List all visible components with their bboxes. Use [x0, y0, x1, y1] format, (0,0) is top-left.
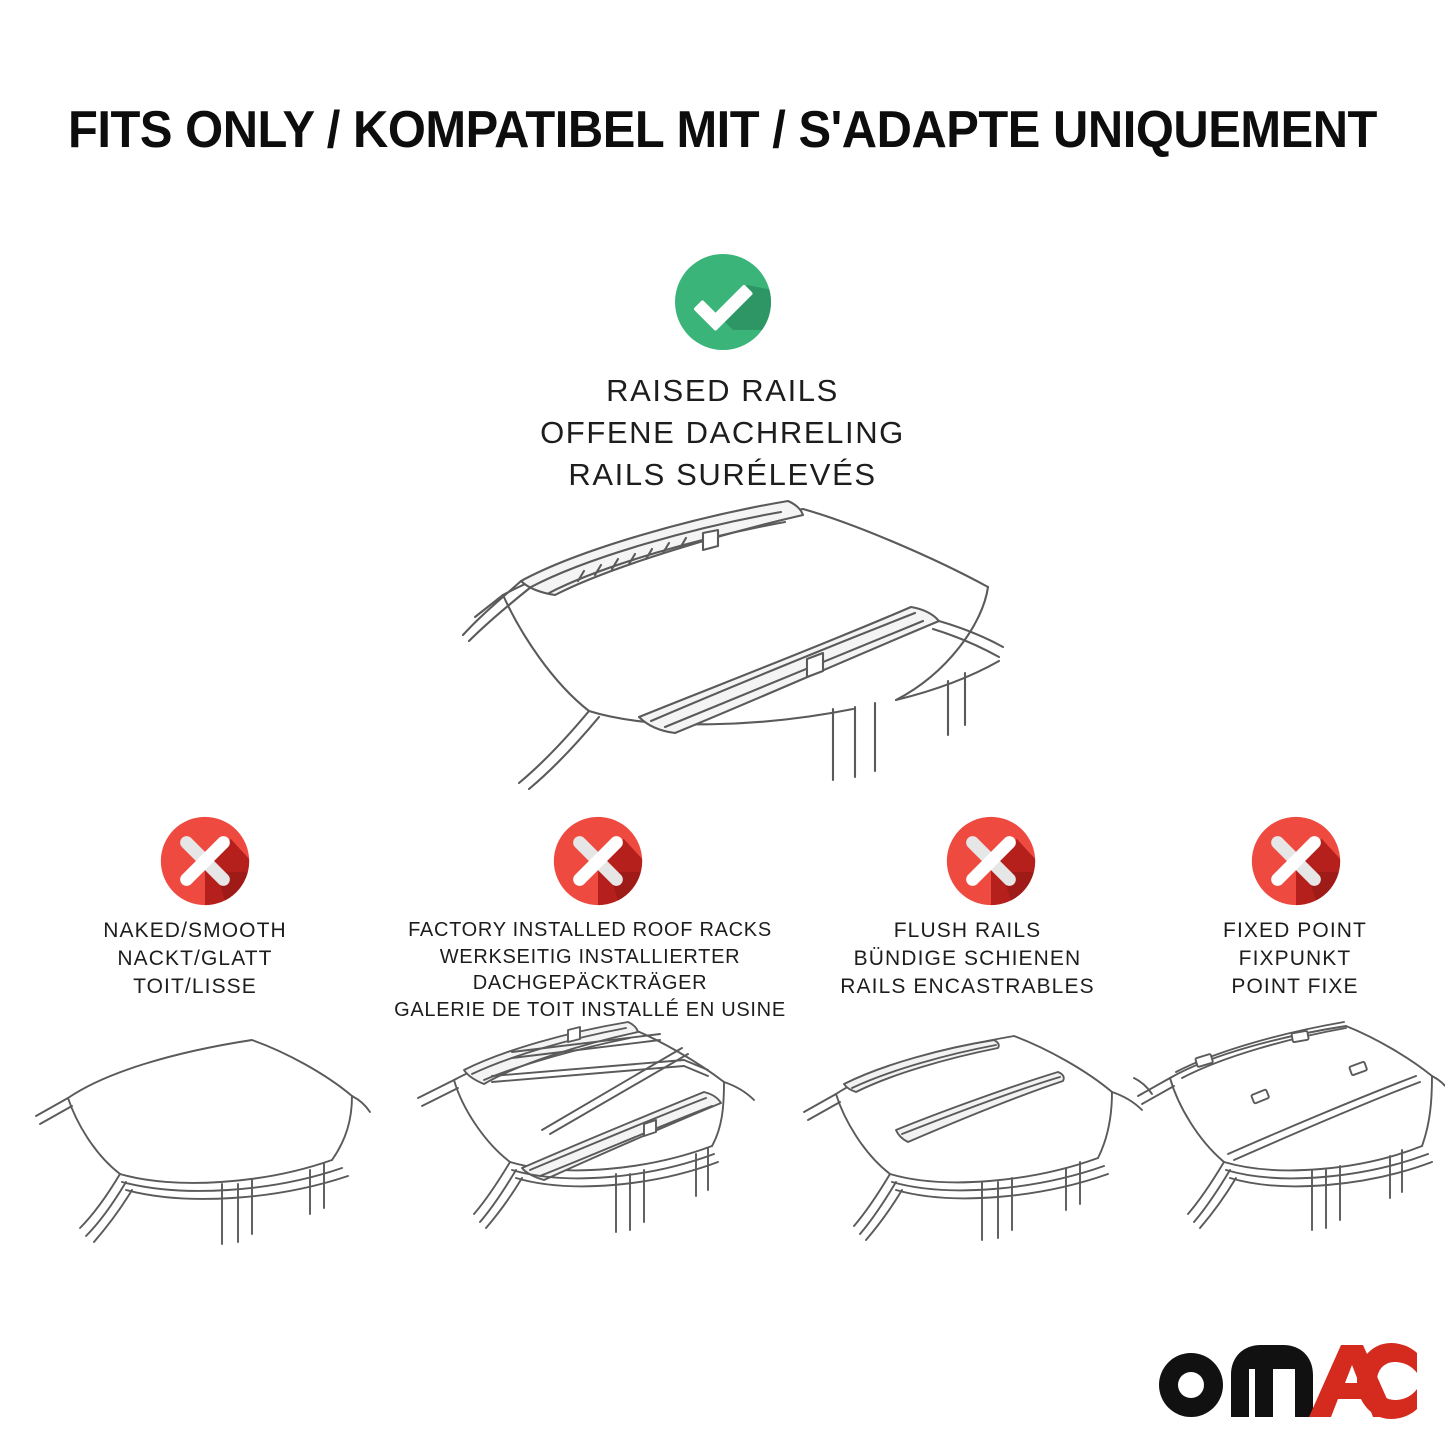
logo-letter-m: [1231, 1345, 1313, 1417]
caption-line: FACTORY INSTALLED ROOF RACKS: [390, 917, 790, 944]
incompatible-item-fixed-point: FIXED POINT FIXPUNKT POINT FIXE: [1145, 815, 1445, 1001]
incompatible-caption-2: FACTORY INSTALLED ROOF RACKS WERKSEITIG …: [390, 917, 790, 1023]
incompatible-row: NAKED/SMOOTH NACKT/GLATT TOIT/LISSE: [0, 815, 1445, 1023]
car-roof-factory-roof-racks-illustration: [392, 1018, 774, 1250]
caption-line: POINT FIXE: [1145, 973, 1445, 1001]
incompatible-item-naked-smooth: NAKED/SMOOTH NACKT/GLATT TOIT/LISSE: [0, 815, 390, 1001]
car-roof-naked-smooth-illustration: [14, 1018, 374, 1250]
caption-line: FLUSH RAILS: [790, 917, 1145, 945]
caption-line: WERKSEITIG INSTALLIERTER: [390, 944, 790, 971]
compatible-section: RAISED RAILS OFFENE DACHRELING RAILS SUR…: [0, 252, 1445, 496]
caption-line: TOIT/LISSE: [0, 973, 390, 1001]
incompatible-caption-4: FIXED POINT FIXPUNKT POINT FIXE: [1145, 917, 1445, 1001]
caption-line: RAILS ENCASTRABLES: [790, 973, 1145, 1001]
car-roof-fixed-point-illustration: [1132, 1018, 1445, 1250]
omac-logo: [1149, 1339, 1417, 1423]
caption-line: BÜNDIGE SCHIENEN: [790, 945, 1145, 973]
incompatible-item-factory-roof-racks: FACTORY INSTALLED ROOF RACKS WERKSEITIG …: [390, 815, 790, 1023]
cross-circle-icon: [945, 815, 1037, 907]
page-title: FITS ONLY / KOMPATIBEL MIT / S'ADAPTE UN…: [43, 104, 1401, 156]
logo-letter-o: [1159, 1353, 1223, 1417]
caption-line: NACKT/GLATT: [0, 945, 390, 973]
car-roof-raised-rails-illustration: [403, 495, 1043, 795]
fitment-infographic: FITS ONLY / KOMPATIBEL MIT / S'ADAPTE UN…: [0, 0, 1445, 1445]
incompatible-illustrations: [0, 1018, 1445, 1253]
caption-line: NAKED/SMOOTH: [0, 917, 390, 945]
cross-circle-icon: [552, 815, 644, 907]
cross-circle-icon: [1250, 815, 1342, 907]
compatible-line-1: RAISED RAILS: [0, 370, 1445, 412]
car-roof-flush-rails-illustration: [782, 1018, 1154, 1250]
compatible-line-2: OFFENE DACHRELING: [0, 412, 1445, 454]
compatible-caption: RAISED RAILS OFFENE DACHRELING RAILS SUR…: [0, 370, 1445, 496]
incompatible-caption-3: FLUSH RAILS BÜNDIGE SCHIENEN RAILS ENCAS…: [790, 917, 1145, 1001]
caption-line: DACHGEPÄCKTRÄGER: [390, 970, 790, 997]
incompatible-item-flush-rails: FLUSH RAILS BÜNDIGE SCHIENEN RAILS ENCAS…: [790, 815, 1145, 1001]
compatible-line-3: RAILS SURÉLEVÉS: [0, 454, 1445, 496]
caption-line: FIXPUNKT: [1145, 945, 1445, 973]
caption-line: FIXED POINT: [1145, 917, 1445, 945]
check-circle-icon: [673, 252, 773, 352]
cross-circle-icon: [159, 815, 251, 907]
incompatible-caption-1: NAKED/SMOOTH NACKT/GLATT TOIT/LISSE: [0, 917, 390, 1001]
